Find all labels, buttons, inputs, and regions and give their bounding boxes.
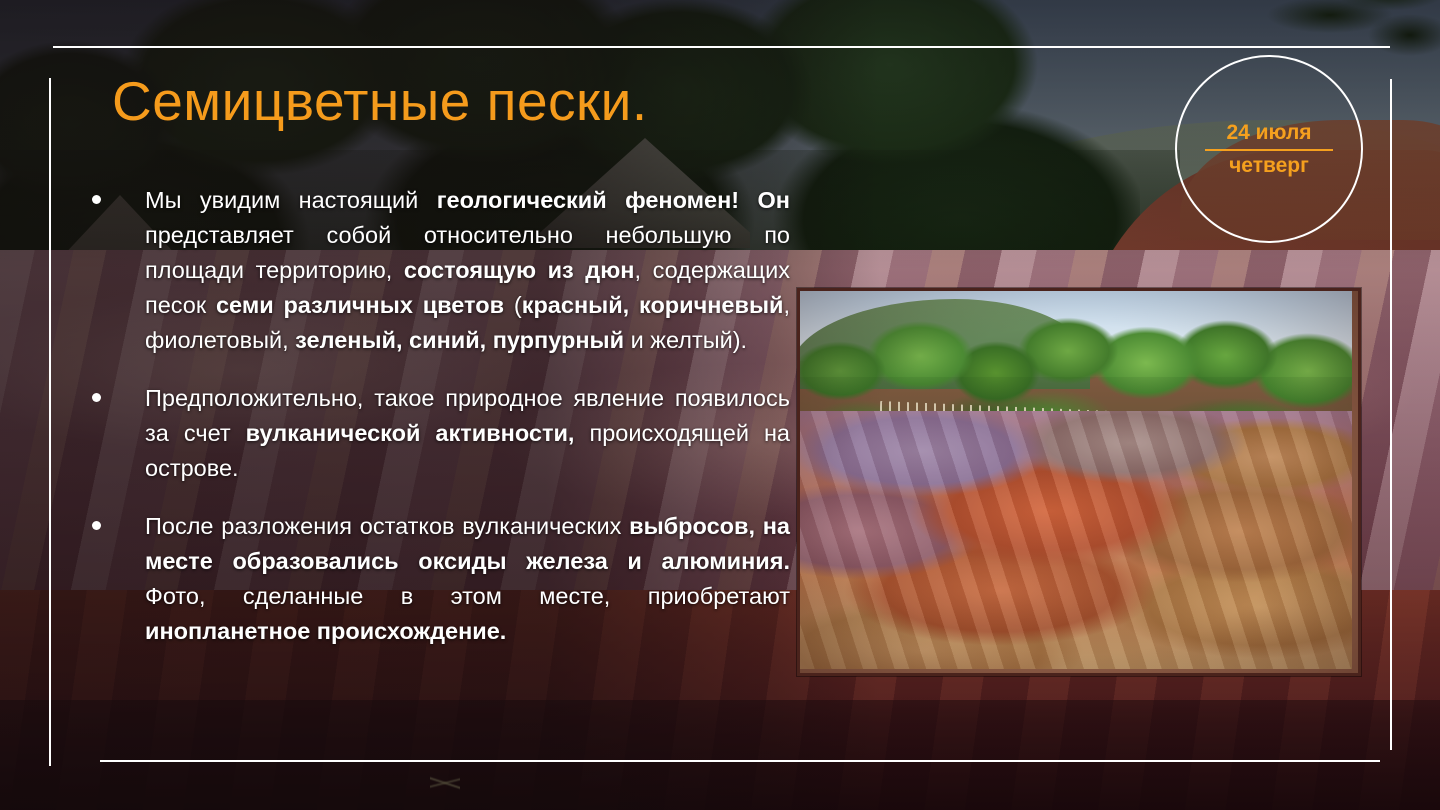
frame-line-top [53,46,1390,48]
date-badge: 24 июля четверг [1175,55,1363,243]
slide-title: Семицветные пески. [112,70,648,132]
date-divider-rule [1205,149,1333,151]
bullet-item: Мы увидим настоящий геологический феноме… [90,183,790,358]
bullet-dot-icon [92,393,101,402]
inset-photo [797,288,1361,676]
frame-line-right [1390,79,1392,750]
date-weekday: четверг [1229,153,1309,179]
frame-line-left [49,78,51,766]
bullet-dot-icon [92,195,101,204]
presentation-slide: Семицветные пески. 24 июля четверг Мы ув… [0,0,1440,810]
bullet-text: Мы увидим настоящий геологический феноме… [145,183,790,358]
inset-photo-vignette [800,291,1358,673]
bullet-text: Предположительно, такое природное явлени… [145,381,790,486]
bullet-item: После разложения остатков вулканических … [90,509,790,649]
frame-line-bottom [100,760,1380,762]
bullet-dot-icon [92,521,101,530]
bullet-text: После разложения остатков вулканических … [145,509,790,649]
slide-body: Мы увидим настоящий геологический феноме… [90,183,790,672]
bullet-item: Предположительно, такое природное явлени… [90,381,790,486]
date-day: 24 июля [1226,120,1311,146]
